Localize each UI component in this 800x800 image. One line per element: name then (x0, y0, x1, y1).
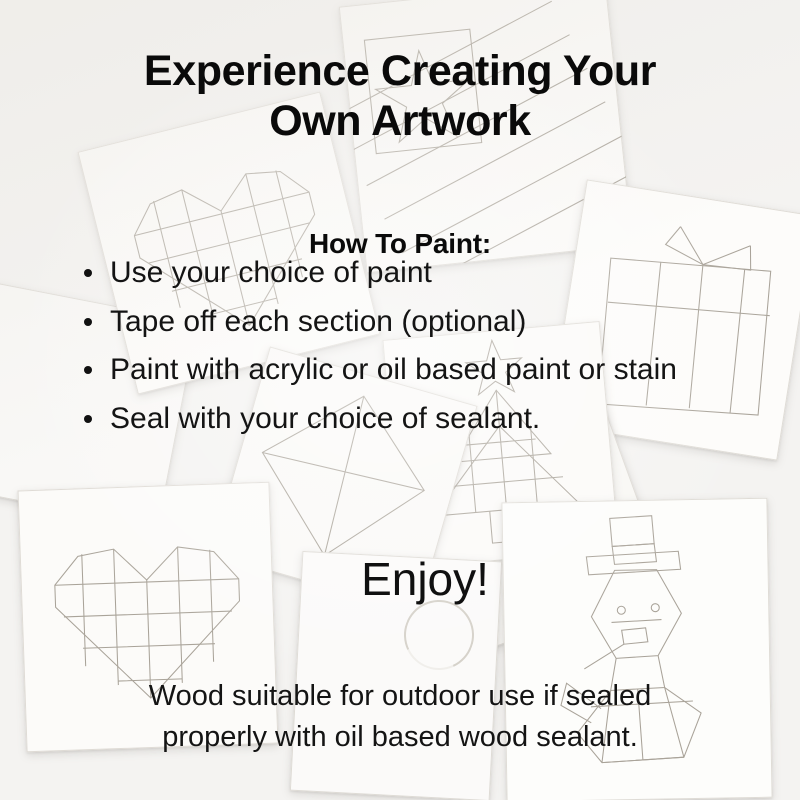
footnote-line-1: Wood suitable for outdoor use if sealed (0, 676, 800, 717)
enjoy-text: Enjoy! (0, 552, 800, 606)
instruction-list: Use your choice of paint Tape off each s… (78, 250, 778, 444)
page-title: Experience Creating Your Own Artwork (0, 47, 800, 147)
list-item: Tape off each section (optional) (78, 299, 778, 345)
title-line-1: Experience Creating Your (144, 47, 656, 95)
title-line-2: Own Artwork (269, 97, 531, 145)
list-item: Seal with your choice of sealant. (78, 396, 778, 442)
poster-canvas: Experience Creating Your Own Artwork How… (0, 0, 800, 800)
footnote-line-2: properly with oil based wood sealant. (0, 717, 800, 758)
list-item: Paint with acrylic or oil based paint or… (78, 347, 778, 393)
footnote: Wood suitable for outdoor use if sealed … (0, 676, 800, 758)
list-item: Use your choice of paint (78, 250, 778, 296)
text-overlay: Experience Creating Your Own Artwork How… (0, 0, 800, 800)
